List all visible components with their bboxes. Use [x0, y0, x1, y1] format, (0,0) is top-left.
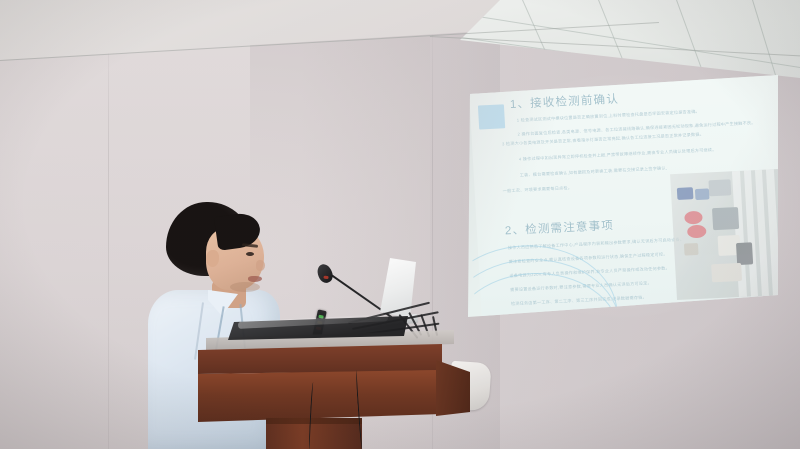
- presenter-ear: [206, 250, 219, 267]
- lectern: [198, 330, 468, 449]
- projection-screen: 1、接收检测前确认 1 检查测试区测试中模块位置是否正确放置到位,上料时要检查托…: [460, 70, 785, 330]
- microphone-indicator: [323, 276, 328, 280]
- lectern-front-panel: [198, 370, 442, 422]
- presenter-chin-shadow: [230, 282, 260, 292]
- presenter-mouth: [248, 276, 262, 282]
- lectern-column-edge: [266, 418, 362, 424]
- presenter-eye: [246, 252, 254, 256]
- presentation-scene: 1、接收检测前确认 1 检查测试区测试中模块位置是否正确放置到位,上料时要检查托…: [0, 0, 800, 449]
- presenter-nose: [256, 260, 265, 271]
- screen-light-falloff: [460, 70, 780, 320]
